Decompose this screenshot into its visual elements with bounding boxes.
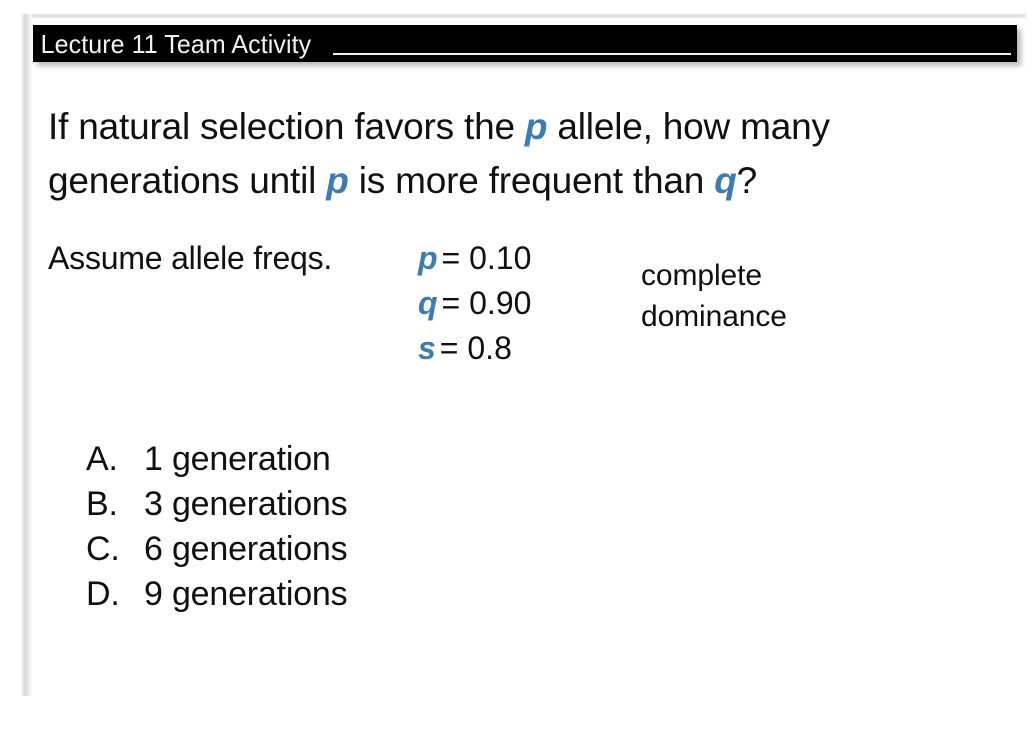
question-text: If natural selection favors the p allele… xyxy=(48,100,968,208)
slide-canvas: Lecture 11 Team Activity If natural sele… xyxy=(0,0,1032,740)
dominance-note-line-2: dominance xyxy=(641,296,787,337)
dominance-note: complete dominance xyxy=(641,255,787,337)
variable-p-value: p xyxy=(418,240,438,276)
question-segment-1: If natural selection favors the xyxy=(48,106,525,147)
frequency-row-p: p= 0.10 xyxy=(418,236,531,281)
dominance-note-line-1: complete xyxy=(641,255,787,296)
frequency-value-s: = 0.8 xyxy=(440,330,512,366)
answer-letter-d: D. xyxy=(86,575,144,614)
answer-choice-b[interactable]: B. 3 generations xyxy=(86,485,347,530)
question-segment-3: is more frequent than xyxy=(349,160,715,201)
slide-left-edge-shadow xyxy=(21,14,32,696)
assumption-label: Assume allele freqs. xyxy=(48,237,332,279)
horizontal-rule-icon xyxy=(333,53,1011,55)
answer-choice-d[interactable]: D. 9 generations xyxy=(86,575,347,620)
slide-top-edge-shadow xyxy=(22,13,1026,18)
answer-letter-c: C. xyxy=(86,530,144,569)
variable-q-value: q xyxy=(418,285,438,321)
answer-choice-a[interactable]: A. 1 generation xyxy=(86,440,347,485)
answer-text-a: 1 generation xyxy=(144,440,331,479)
frequency-row-s: s= 0.8 xyxy=(418,326,531,371)
variable-p-1: p xyxy=(525,106,547,147)
variable-p-2: p xyxy=(326,160,348,201)
slide-header-bar: Lecture 11 Team Activity xyxy=(33,25,1017,62)
slide-title: Lecture 11 Team Activity xyxy=(33,31,311,57)
answer-choice-list: A. 1 generation B. 3 generations C. 6 ge… xyxy=(86,440,347,620)
answer-text-b: 3 generations xyxy=(144,485,347,524)
answer-choice-c[interactable]: C. 6 generations xyxy=(86,530,347,575)
answer-letter-b: B. xyxy=(86,485,144,524)
question-segment-4: ? xyxy=(737,160,757,201)
answer-letter-a: A. xyxy=(86,440,144,479)
variable-q-1: q xyxy=(714,160,736,201)
answer-text-c: 6 generations xyxy=(144,530,347,569)
frequency-value-q: = 0.90 xyxy=(442,285,532,321)
allele-frequency-list: p= 0.10 q= 0.90 s= 0.8 xyxy=(418,236,531,371)
answer-text-d: 9 generations xyxy=(144,575,347,614)
frequency-row-q: q= 0.90 xyxy=(418,281,531,326)
variable-s-value: s xyxy=(418,330,436,366)
frequency-value-p: = 0.10 xyxy=(442,240,532,276)
